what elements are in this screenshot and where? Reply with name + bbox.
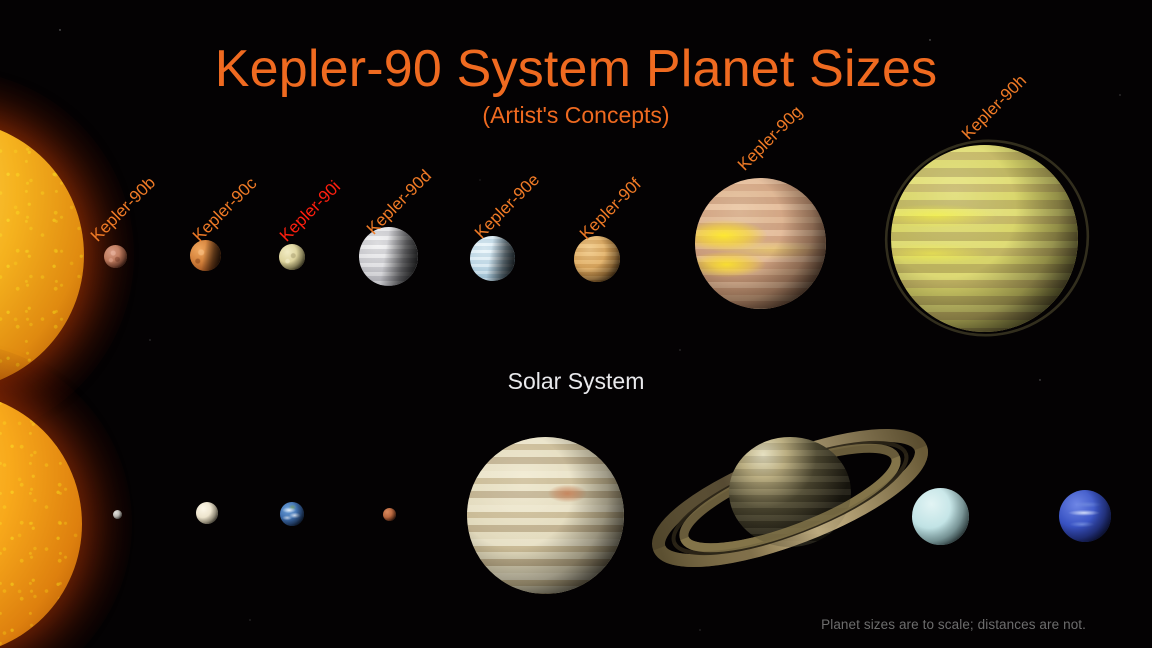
- planet-kepler-90i: [279, 244, 305, 270]
- terminator: [1059, 490, 1111, 542]
- planet-saturn: [729, 437, 851, 547]
- label-kepler-90i: Kepler-90i: [276, 177, 345, 246]
- terminator: [190, 240, 221, 271]
- planet-kepler-90b: [104, 245, 127, 268]
- planet-kepler-90d: [359, 227, 418, 286]
- terminator: [912, 488, 969, 545]
- terminator: [113, 510, 122, 519]
- page-title: Kepler-90 System Planet Sizes: [0, 42, 1152, 97]
- label-kepler-90f: Kepler-90f: [576, 174, 646, 244]
- cloud-bands: [729, 437, 851, 547]
- sun: [0, 392, 82, 648]
- label-kepler-90d: Kepler-90d: [363, 166, 436, 239]
- terminator: [467, 437, 624, 594]
- terminator: [695, 178, 826, 309]
- label-kepler-90c: Kepler-90c: [189, 174, 261, 246]
- kepler90-star: [0, 120, 84, 390]
- planet-kepler-90h: [891, 145, 1078, 332]
- terminator: [891, 145, 1078, 332]
- star-granulation: [0, 120, 84, 390]
- planet-uranus: [912, 488, 969, 545]
- label-kepler-90e: Kepler-90e: [471, 170, 544, 243]
- planet-mercury: [113, 510, 122, 519]
- solar-system-heading: Solar System: [0, 368, 1152, 395]
- label-kepler-90b: Kepler-90b: [87, 173, 160, 246]
- terminator: [470, 236, 515, 281]
- planet-kepler-90c: [190, 240, 221, 271]
- star-granulation: [0, 392, 82, 648]
- planet-mars: [383, 508, 396, 521]
- terminator: [383, 508, 396, 521]
- planet-jupiter: [467, 437, 624, 594]
- terminator: [574, 236, 620, 282]
- planet-kepler-90f: [574, 236, 620, 282]
- scale-footnote: Planet sizes are to scale; distances are…: [821, 617, 1086, 632]
- infographic-canvas: Kepler-90 System Planet Sizes (Artist's …: [0, 0, 1152, 648]
- planet-kepler-90e: [470, 236, 515, 281]
- planet-venus: [196, 502, 218, 524]
- planet-neptune: [1059, 490, 1111, 542]
- terminator: [104, 245, 127, 268]
- terminator: [280, 502, 304, 526]
- terminator: [359, 227, 418, 286]
- planet-earth: [280, 502, 304, 526]
- planet-kepler-90g: [695, 178, 826, 309]
- terminator: [279, 244, 305, 270]
- terminator: [196, 502, 218, 524]
